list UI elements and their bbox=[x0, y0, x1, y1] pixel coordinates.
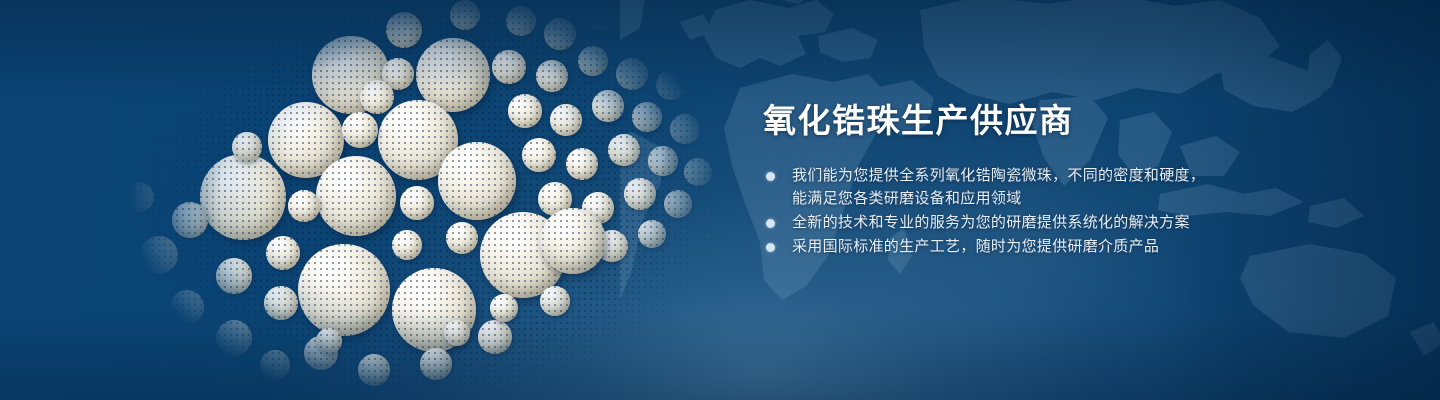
bullet-dot-icon bbox=[766, 172, 775, 181]
list-item: 采用国际标准的生产工艺，随时为您提供研磨介质产品 bbox=[763, 235, 1283, 258]
bullet-dot-icon bbox=[766, 219, 775, 228]
list-item-label: 全新的技术和专业的服务为您的研磨提供系统化的解决方案 bbox=[792, 211, 1283, 234]
page-title: 氧化锆珠生产供应商 bbox=[763, 100, 1283, 142]
bullet-dot-icon bbox=[766, 243, 775, 252]
list-item-label: 采用国际标准的生产工艺，随时为您提供研磨介质产品 bbox=[792, 235, 1283, 258]
banner-content: 氧化锆珠生产供应商 我们能为您提供全系列氧化锆陶瓷微珠，不同的密度和硬度， 能满… bbox=[763, 100, 1283, 259]
hero-banner: 氧化锆珠生产供应商 我们能为您提供全系列氧化锆陶瓷微珠，不同的密度和硬度， 能满… bbox=[0, 0, 1440, 400]
list-item: 全新的技术和专业的服务为您的研磨提供系统化的解决方案 bbox=[763, 211, 1283, 234]
feature-list: 我们能为您提供全系列氧化锆陶瓷微珠，不同的密度和硬度， 能满足您各类研磨设备和应… bbox=[763, 164, 1283, 258]
list-item-label: 我们能为您提供全系列氧化锆陶瓷微珠，不同的密度和硬度， 能满足您各类研磨设备和应… bbox=[792, 164, 1283, 210]
list-item: 我们能为您提供全系列氧化锆陶瓷微珠，不同的密度和硬度， 能满足您各类研磨设备和应… bbox=[763, 164, 1283, 210]
